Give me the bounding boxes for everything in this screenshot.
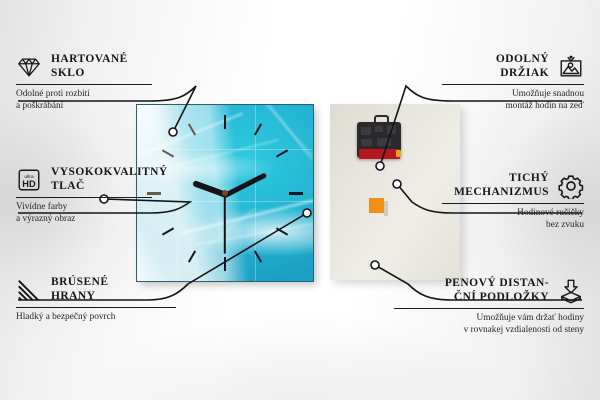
ultra-hd-large-label: HD bbox=[22, 178, 36, 188]
feature-header: ultra HD VYSOKOKVALITNÝ TLAČ bbox=[16, 166, 152, 193]
glass-clock-panel bbox=[136, 104, 314, 282]
mechanism-notch bbox=[375, 126, 383, 132]
clock-center-cap bbox=[222, 190, 228, 196]
battery-positive-terminal bbox=[396, 150, 401, 157]
beveled-edge-icon bbox=[16, 277, 42, 303]
clock-tick bbox=[276, 149, 288, 157]
mechanism-notch bbox=[377, 138, 391, 146]
feature-divider bbox=[442, 84, 584, 85]
clock-tick bbox=[162, 227, 174, 235]
clock-minute-hand bbox=[224, 172, 267, 197]
clock-tick bbox=[162, 149, 174, 157]
feature-tempered-glass: HARTOVANÉ SKLO Odolné proti rozbití a po… bbox=[16, 53, 152, 112]
feature-description: Vivídne farby a výrazný obraz bbox=[16, 202, 152, 225]
clock-hour-hand bbox=[192, 181, 226, 198]
feature-title: VYSOKOKVALITNÝ TLAČ bbox=[51, 166, 168, 193]
feather-streak bbox=[159, 208, 255, 282]
infographic-stage: HARTOVANÉ SKLO Odolné proti rozbití a po… bbox=[0, 0, 600, 400]
feature-foam-spacers: PENOVÝ DISTAN- ČNÍ PODLOŽKY Umožňuje vám… bbox=[394, 277, 584, 336]
feature-description: Odolné proti rozbití a poškrábání bbox=[16, 89, 152, 112]
feature-title: BRÚSENÉ HRANY bbox=[51, 276, 108, 303]
gear-icon bbox=[558, 173, 584, 199]
mechanism-battery bbox=[359, 149, 400, 159]
feature-title: PENOVÝ DISTAN- ČNÍ PODLOŽKY bbox=[445, 277, 549, 304]
clock-tick bbox=[224, 257, 226, 271]
picture-hanger-icon bbox=[558, 54, 584, 80]
feature-divider bbox=[394, 308, 584, 309]
clock-tick bbox=[289, 192, 303, 195]
feature-header: BRÚSENÉ HRANY bbox=[16, 276, 176, 303]
feature-header: TICHÝ MECHANIZMUS bbox=[442, 172, 584, 199]
ultra-hd-icon: ultra HD bbox=[16, 167, 42, 193]
feature-description: Hladký a bezpečný povrch bbox=[16, 312, 176, 324]
feature-description: Umožňuje snadnou montáž hodin na zeď bbox=[442, 89, 584, 112]
feature-title: HARTOVANÉ SKLO bbox=[51, 53, 128, 80]
feature-divider bbox=[442, 203, 584, 204]
feature-durable-hanger: ODOLNÝ DRŽIAK Umožňuje snadnou montáž ho… bbox=[442, 53, 584, 112]
feature-high-quality-print: ultra HD VYSOKOKVALITNÝ TLAČ Vivídne far… bbox=[16, 166, 152, 225]
mechanism-notch bbox=[361, 139, 372, 146]
feature-description: Hodinové ručičky bez zvuku bbox=[442, 208, 584, 231]
foam-spacer-icon bbox=[558, 278, 584, 304]
mechanism-notch bbox=[387, 125, 396, 134]
feature-divider bbox=[16, 197, 152, 198]
feature-title: ODOLNÝ DRŽIAK bbox=[496, 53, 549, 80]
feature-divider bbox=[16, 307, 176, 308]
feature-silent-mechanism: TICHÝ MECHANIZMUS Hodinové ručičky bez z… bbox=[442, 172, 584, 231]
mechanism-panel bbox=[330, 104, 460, 280]
glass-reflection-line bbox=[177, 105, 178, 281]
feature-header: HARTOVANÉ SKLO bbox=[16, 53, 152, 80]
feature-header: PENOVÝ DISTAN- ČNÍ PODLOŽKY bbox=[394, 277, 584, 304]
feature-header: ODOLNÝ DRŽIAK bbox=[442, 53, 584, 80]
feature-description: Umožňuje vám držať hodiny v rovnakej vzd… bbox=[394, 313, 584, 336]
feather-streak bbox=[243, 104, 312, 160]
mechanism-notch bbox=[361, 127, 371, 135]
feature-divider bbox=[16, 84, 152, 85]
clock-second-hand bbox=[224, 194, 226, 254]
foam-spacer-pad bbox=[369, 198, 384, 213]
diamond-icon bbox=[16, 54, 42, 80]
mechanism-product-photo bbox=[330, 104, 460, 280]
feature-title: TICHÝ MECHANIZMUS bbox=[454, 172, 549, 199]
feature-beveled-edges: BRÚSENÉ HRANY Hladký a bezpečný povrch bbox=[16, 276, 176, 324]
foam-spacer-pad-side bbox=[384, 201, 388, 216]
clock-tick bbox=[224, 115, 226, 129]
